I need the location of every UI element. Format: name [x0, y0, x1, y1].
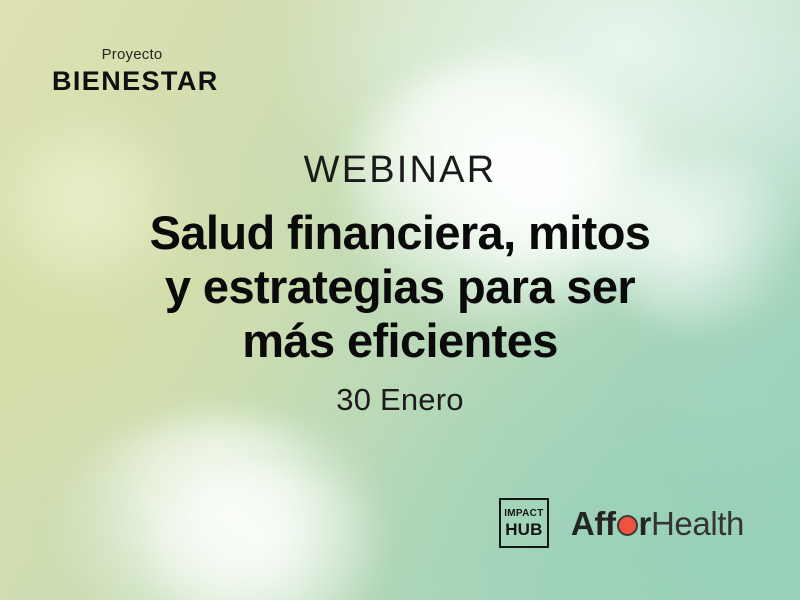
brand-lockup: Proyecto BIENESTAR [52, 46, 212, 95]
event-date: 30 Enero [0, 382, 800, 418]
poster-content: Proyecto BIENESTAR WEBINAR Salud financi… [0, 0, 800, 600]
center-block: WEBINAR Salud financiera, mitos y estrat… [0, 150, 800, 418]
headline-line-2: y estrategias para ser [0, 260, 800, 314]
brand-kicker: Proyecto [52, 46, 212, 64]
impact-hub-logo-line1: IMPACT [504, 509, 543, 519]
affor-health-logo: Aff r Health [571, 507, 744, 540]
webinar-poster: Proyecto BIENESTAR WEBINAR Salud financi… [0, 0, 800, 600]
impact-hub-logo-line2: HUB [505, 521, 542, 538]
event-type-label: WEBINAR [0, 150, 800, 192]
headline: Salud financiera, mitos y estrategias pa… [0, 206, 800, 368]
impact-hub-logo: IMPACT HUB [499, 498, 549, 548]
headline-line-3: más eficientes [0, 314, 800, 368]
logo-row: IMPACT HUB Aff r Health [499, 498, 744, 548]
affor-health-logo-suffix: Health [651, 507, 744, 540]
affor-health-dot-icon [617, 515, 638, 536]
headline-line-1: Salud financiera, mitos [0, 206, 800, 260]
affor-health-logo-mid: r [639, 507, 651, 540]
brand-name: BIENESTAR [52, 67, 212, 95]
affor-health-logo-prefix: Aff [571, 507, 616, 540]
